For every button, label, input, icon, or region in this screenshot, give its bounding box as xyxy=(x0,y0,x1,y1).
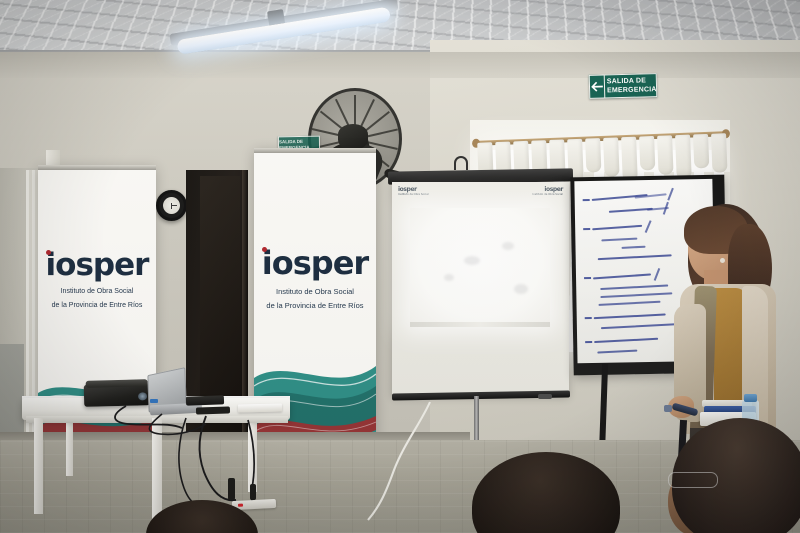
screen-corner-logo-right-sub: Instituto de Obra Social xyxy=(532,193,563,196)
clock-hour-hand xyxy=(171,203,172,209)
banner-subtitle-line2: de la Provincia de Entre Ríos xyxy=(38,302,156,311)
curtain-tab xyxy=(675,135,692,180)
banner-top-rail xyxy=(254,148,376,153)
curtain-tab xyxy=(711,133,727,173)
power-plug xyxy=(250,484,256,500)
curtain-tab xyxy=(621,137,638,182)
projection-screen-unit: iosper Instituto de Obra Social iosper I… xyxy=(388,170,573,400)
exit-sign-line2: EMERGENCIA xyxy=(607,85,657,95)
screen-corner-logo-left: iosper Instituto de Obra Social xyxy=(398,186,429,196)
wall-clock xyxy=(156,190,187,221)
presentation-room-photo: SALIDA DE EMERGENCIA SALIDA DE EMERGENCI… xyxy=(0,0,800,533)
logo-accent-dot xyxy=(262,247,267,252)
projection-bottom-strip xyxy=(410,322,550,327)
banner-subtitle-line1: Instituto de Obra Social xyxy=(38,288,156,297)
clock-face xyxy=(163,197,180,214)
curtain-tab xyxy=(657,135,673,175)
logo-accent-dot xyxy=(46,250,51,255)
iosper-logo-text: iosper xyxy=(262,244,368,282)
banner-logo-block: iosper Instituto de Obra Social de la Pr… xyxy=(254,244,376,311)
power-plug xyxy=(228,478,235,500)
power-strip-led xyxy=(238,504,243,507)
projection-screen-surface: iosper Instituto de Obra Social iosper I… xyxy=(392,182,569,396)
clock-minute-hand xyxy=(171,205,177,206)
banner-subtitle-line1: Instituto de Obra Social xyxy=(254,287,376,296)
screen-adjust-knob xyxy=(538,394,552,399)
bottle-cap xyxy=(744,394,757,402)
emergency-exit-sign: SALIDA DE EMERGENCIA xyxy=(589,73,658,99)
exit-sign-text: SALIDA DE EMERGENCIA xyxy=(605,76,657,95)
curtain-tab xyxy=(693,134,709,169)
iosper-logo-text: iosper xyxy=(46,247,149,283)
fan-motor-hub xyxy=(338,124,368,150)
left-arrow-icon xyxy=(590,75,606,97)
eyeglasses xyxy=(668,472,718,488)
screen-hook xyxy=(454,156,468,170)
projected-image xyxy=(410,208,550,326)
curtain-tab xyxy=(585,138,601,173)
presenter-earring xyxy=(720,258,725,263)
banner-logo-block: iosper Instituto de Obra Social de la Pr… xyxy=(38,247,156,311)
wall-upper-band xyxy=(0,52,800,78)
screen-corner-logo-left-sub: Instituto de Obra Social xyxy=(398,193,429,196)
screen-corner-logo-right: iosper Instituto de Obra Social xyxy=(532,186,563,196)
curtain-tab xyxy=(603,137,619,177)
banner-subtitle-line2: de la Provincia de Entre Ríos xyxy=(254,301,376,310)
banner-top-rail xyxy=(38,165,156,170)
marker-cap xyxy=(664,405,672,412)
curtain-tab xyxy=(639,136,655,171)
